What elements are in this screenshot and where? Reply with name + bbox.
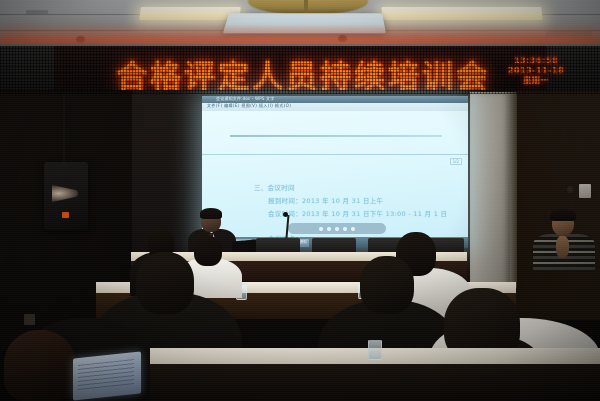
audience-head xyxy=(360,256,414,314)
audience-head xyxy=(194,236,222,266)
ceiling-light-panel-right xyxy=(381,7,542,20)
document-line: 会议时间：2013 年 10 月 31 日下午 13:00 - 11 月 1 日 xyxy=(268,208,447,218)
entry-door xyxy=(470,92,510,288)
led-banner: 合格评定人员持续培训会 13:36:58 2013-11-18 星期一 xyxy=(0,44,600,96)
led-clock: 13:36:58 2013-11-18 星期一 xyxy=(496,56,576,86)
toolbar-icon[interactable] xyxy=(335,227,339,231)
page-indicator: 1/2 xyxy=(450,158,462,165)
led-time: 13:36:58 xyxy=(496,56,576,66)
water-glass xyxy=(368,340,382,360)
jbl-logo xyxy=(62,212,69,218)
document-line: 三、会议时间 xyxy=(254,182,295,192)
document-line: 报到时间：2013 年 10 月 31 日上午 xyxy=(268,195,383,205)
document-rule xyxy=(230,135,442,137)
led-date: 2013-11-18 xyxy=(496,66,576,76)
floating-toolbar[interactable] xyxy=(288,223,386,234)
toolbar-icon[interactable] xyxy=(319,227,323,231)
conference-room-photo: 合格评定人员持续培训会 13:36:58 2013-11-18 星期一 会议通知… xyxy=(0,0,600,401)
led-banner-end-cap xyxy=(0,46,54,94)
ceiling-light-panel-left xyxy=(139,7,241,20)
speaker-cone-icon xyxy=(52,185,78,202)
toolbar-icon[interactable] xyxy=(327,227,331,231)
audience-head xyxy=(4,330,76,401)
door-frame xyxy=(510,92,517,288)
wall-outlet xyxy=(24,314,35,325)
audience-head xyxy=(136,252,194,314)
microphone-icon xyxy=(283,212,288,217)
projection-screen: 会议通知文件.doc - WPS 文字 文件(F) 编辑(E) 视图(V) 插入… xyxy=(202,96,468,248)
toolbar-icon[interactable] xyxy=(343,227,347,231)
ceiling xyxy=(0,0,600,46)
led-weekday: 星期一 xyxy=(496,76,576,86)
presenter-hair xyxy=(200,208,222,219)
jbl-speaker xyxy=(44,162,88,230)
wall-fixture xyxy=(567,186,573,193)
right-attendee-hair xyxy=(550,209,576,221)
document-separator xyxy=(202,154,468,155)
speaker-mount-pole xyxy=(63,94,65,164)
document-page: 1/2 三、会议时间 报到时间：2013 年 10 月 31 日上午 会议时间：… xyxy=(202,111,468,248)
window-title: 会议通知文件.doc - WPS 文字 xyxy=(216,96,274,102)
light-switch[interactable] xyxy=(579,184,591,198)
window-menu-items[interactable]: 文件(F) 编辑(E) 视图(V) 插入(I) 格式(O) xyxy=(207,103,291,109)
table-row-front-panel xyxy=(150,364,600,401)
ceiling-vent xyxy=(26,10,48,14)
projector-mount xyxy=(248,0,368,14)
right-attendee-arm xyxy=(556,236,569,258)
toolbar-icon[interactable] xyxy=(351,227,355,231)
